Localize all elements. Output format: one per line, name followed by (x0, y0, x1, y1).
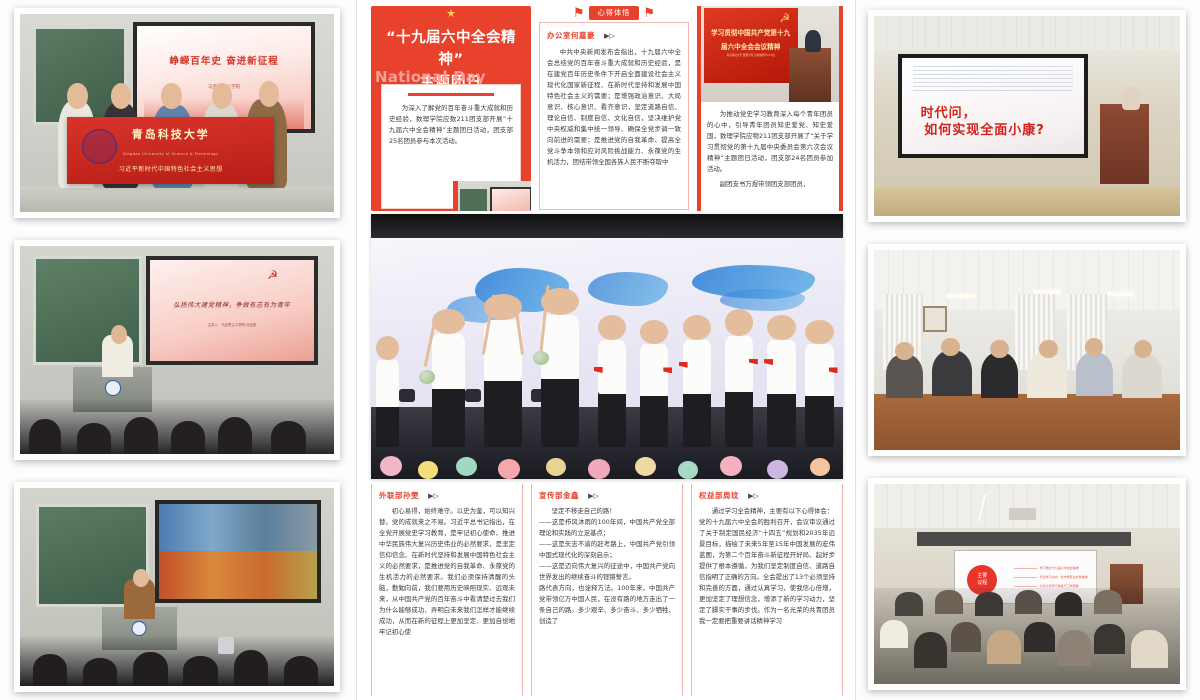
testimony-column: 宣传部金鑫 ▶▷ 坚定不移走自己的路！ ——这是栉风沐雨的100年间，中国共产党… (531, 484, 683, 696)
audience-head (1024, 622, 1055, 652)
audience-head (271, 421, 306, 454)
testimony-column: 外联部孙雯 ▶▷ 初心易得，始终难守。以史为鉴，可以知兴替。党的成就来之不易。习… (371, 484, 523, 696)
front-desk (20, 186, 334, 212)
right-block-body2: 副团支书万煜带领团支部团员， (707, 179, 833, 190)
slide-item-2: 传达学习中央、省市委有关文件精神 (1040, 575, 1088, 579)
person-head (212, 83, 232, 109)
student (886, 354, 923, 398)
university-logo (132, 621, 147, 636)
testimony-body: 通过学习全会精神，主要有以下心得体会： 党的十九届六中全会的胜利召开，会议审议通… (699, 506, 835, 627)
audience-head (935, 590, 963, 614)
article-column: ★ “十九届六中全会精神” 主题团日 National Day 为深入了解党的百… (356, 0, 856, 700)
photo-card-seated-students[interactable] (868, 244, 1186, 456)
podium (789, 48, 830, 102)
photo-card-lecture-food[interactable] (14, 482, 340, 692)
party-emblem-icon: ☭ (267, 268, 278, 282)
student-head (941, 338, 959, 356)
audience-head (284, 656, 319, 686)
audience-head (218, 417, 253, 454)
testimony-author: 宣传部金鑫 (539, 491, 579, 500)
audience-head (1131, 630, 1168, 668)
audience-head (1015, 590, 1043, 614)
star-icon: ★ (446, 7, 456, 20)
phone-held-up (218, 637, 234, 655)
lecture-party-slide: ☭ 弘扬伟大建党精神，争做有志有为青年 主讲人：马克思主义学院 孙佳慧 (20, 246, 334, 454)
projection-screen: 时代问， 如何实现全面小康? (898, 54, 1088, 158)
smart-display (155, 500, 321, 603)
conference-audience-photo: 主要 议程 学习党的十九届六中全会精神 传达学习中央、省市委有关文件精神 讨论交… (874, 484, 1180, 684)
audience-head (975, 592, 1003, 616)
banner-bottom-text: 习近平新时代中国特色社会主义思想 (67, 164, 274, 173)
lantern-icon: ⚑ (643, 7, 655, 20)
speaker-head (133, 569, 149, 587)
student (1076, 352, 1113, 396)
note-author: 办公室何嘉豪 ▶▷ (547, 30, 681, 41)
smart-display: ☭ 弘扬伟大建党精神，争做有志有为青年 主讲人：马克思主义学院 孙佳慧 (146, 256, 319, 364)
slide-line2: 届六中全会会议精神 (704, 41, 798, 51)
slide-subtitle: 主讲人：马克思主义学院 孙佳慧 (150, 322, 315, 327)
play-mark-icon: ▶▷ (588, 492, 599, 500)
audience-head (124, 417, 159, 454)
ceiling-light (947, 294, 975, 298)
party-emblem-icon: ☭ (779, 11, 790, 25)
performer (541, 288, 579, 447)
audience-head (880, 620, 908, 648)
seated-students-photo (874, 250, 1180, 450)
student (1027, 352, 1067, 398)
slide-item-1: 学习党的十九届六中全会精神 (1040, 566, 1079, 570)
slide-line1: 时代问， (921, 102, 977, 121)
audience-head (29, 419, 60, 454)
student-head (990, 340, 1008, 358)
banner-title: 青岛科技大学 (67, 126, 274, 142)
person-head (259, 81, 279, 107)
article-right-block: ☭ 学习贯彻中国共产党第十九 届六中全会会议精神 青岛科技大学 数理学院 应用物… (697, 6, 843, 211)
projector (1009, 508, 1037, 520)
slide-title: 弘扬伟大建党精神，争做有志有为青年 (150, 300, 315, 309)
audience-head (77, 423, 112, 454)
photo-card-lecture-party[interactable]: ☭ 弘扬伟大建党精神，争做有志有为青年 主讲人：马克思主义学院 孙佳慧 (14, 240, 340, 460)
student (932, 350, 972, 396)
red-banner: 青岛科技大学 Qingdao University of Science & T… (67, 117, 274, 184)
meeting-slide-photo: ☭ 学习贯彻中国共产党第十九 届六中全会会议精神 青岛科技大学 数理学院 应用物… (701, 6, 839, 102)
performer (376, 336, 400, 447)
hall-screen-photo: 时代问， 如何实现全面小康? (874, 16, 1180, 216)
play-mark-icon: ▶▷ (604, 32, 615, 40)
photo-card-conference-audience[interactable]: 主要 议程 学习党的十九届六中全会精神 传达学习中央、省市委有关文件精神 讨论交… (868, 478, 1186, 690)
performer (598, 315, 626, 448)
audience-head (171, 421, 206, 454)
person-head (67, 83, 87, 109)
testimony-body: 初心易得，始终难守。以史为鉴，可以知兴替。党的成就来之不易。习近平总书记指出，在… (379, 506, 515, 638)
red-slide: ☭ 学习贯彻中国共产党第十九 届六中全会会议精神 青岛科技大学 数理学院 应用物… (704, 8, 798, 83)
student-head (895, 342, 913, 360)
speaker-head (111, 325, 127, 344)
slide-line1: 学习贯彻中国共产党第十九 (704, 27, 798, 37)
banner-english: Qingdao University of Science & Technolo… (67, 152, 274, 156)
group-photo-banner: 峥嵘百年史 奋进新征程 马克思主义学院 孙佳慧 (20, 14, 334, 212)
article-bottom-band: 外联部孙雯 ▶▷ 初心易得，始终难守。以史为鉴，可以知兴替。党的成就来之不易。习… (371, 484, 843, 696)
conference-desk (874, 394, 1180, 450)
article-top-band: ★ “十九届六中全会精神” 主题团日 National Day 为深入了解党的百… (371, 6, 843, 211)
testimony-column: 权益部周玟 ▶▷ 通过学习全会精神，主要有以下心得体会： 党的十九届六中全会的胜… (691, 484, 843, 696)
person-head (161, 83, 181, 109)
audience-head (183, 656, 218, 686)
wall-band (917, 532, 1131, 546)
right-photo-column: 时代问， 如何实现全面小康? (856, 0, 1200, 700)
audience-head (1058, 630, 1092, 666)
slide-line2: 如何实现全面小康? (924, 119, 1045, 138)
audience-head (987, 630, 1021, 664)
audience-head (951, 622, 982, 652)
article-title-line1: “十九届六中全会精神” (379, 28, 523, 72)
speaker (1122, 86, 1140, 110)
audience-head (1055, 592, 1083, 616)
inline-thumb-classroom (453, 181, 531, 211)
performer (484, 294, 522, 448)
slide-title: 峥嵘百年史 奋进新征程 (137, 53, 311, 67)
podium (1100, 104, 1149, 184)
play-mark-icon: ▶▷ (428, 492, 439, 500)
audience-head (33, 654, 68, 686)
university-logo (105, 380, 121, 396)
note-body: 中共中央新闻发布会指出，十九届六中全会总结党的百年奋斗重大成就和历史经验，是在建… (547, 47, 681, 168)
right-block-body1: 为推动党史学习教育深入每个青年团员的心中，引导青年团员知史爱党、知史爱国，数理学… (707, 109, 833, 175)
audience-head (234, 650, 269, 686)
testimony-author: 权益部周玟 (699, 491, 739, 500)
student (1122, 352, 1162, 398)
ceiling-light (1107, 292, 1135, 296)
accent-bar (408, 93, 494, 96)
balloon (588, 459, 610, 479)
performer (432, 309, 465, 447)
slide-subtitle: 青岛科技大学 数理学院 应用物理学211班 (704, 54, 798, 58)
lecture-food-slide (20, 488, 334, 686)
testimony-author: 外联部孙雯 (379, 491, 419, 500)
student-head (1039, 340, 1057, 358)
wall-picture (923, 306, 947, 332)
note-author-name: 办公室何嘉豪 (547, 31, 595, 40)
speaker (805, 30, 821, 52)
audience-head (83, 658, 118, 686)
title-card-body: 为深入了解党的百年奋斗重大成就和历史经验，数理学院应数211团支部开展“十九届六… (389, 103, 513, 147)
balloon (678, 461, 698, 479)
audience-head (1094, 590, 1122, 614)
balloon (546, 458, 566, 476)
play-mark-icon: ▶▷ (748, 492, 759, 500)
audience-head (133, 652, 168, 686)
section-badge: 心得体悟 (589, 6, 640, 20)
testimony-body: 坚定不移走自己的路！ ——这是栉风沐雨的100年间，中国共产党全部理论和实践的立… (539, 506, 675, 627)
performer (725, 309, 753, 447)
audience-head (895, 592, 923, 616)
article-title-card: ★ “十九届六中全会精神” 主题团日 National Day 为深入了解党的百… (371, 6, 531, 211)
performer (767, 315, 795, 448)
audience-head (914, 632, 948, 668)
audience-head (1094, 624, 1125, 654)
magazine-page: 峥嵘百年史 奋进新征程 马克思主义学院 孙佳慧 (0, 0, 1200, 700)
performer (683, 315, 711, 448)
performer (640, 320, 668, 447)
left-photo-column: 峥嵘百年史 奋进新征程 马克思主义学院 孙佳慧 (0, 0, 356, 700)
performer (805, 320, 833, 447)
student (981, 352, 1018, 398)
lantern-icon: ⚑ (573, 7, 585, 20)
chorus-performance-photo[interactable] (371, 214, 843, 479)
stage-floor (874, 188, 1180, 216)
photo-card-group-banner[interactable]: 峥嵘百年史 奋进新征程 马克思主义学院 孙佳慧 (14, 8, 340, 218)
article-note-block: ⚑ 心得体悟 ⚑ 办公室何嘉豪 ▶▷ 中共中央新闻发布会指出，十九届六中全会总结… (539, 6, 689, 211)
photo-card-hall-screen[interactable]: 时代问， 如何实现全面小康? (868, 10, 1186, 222)
